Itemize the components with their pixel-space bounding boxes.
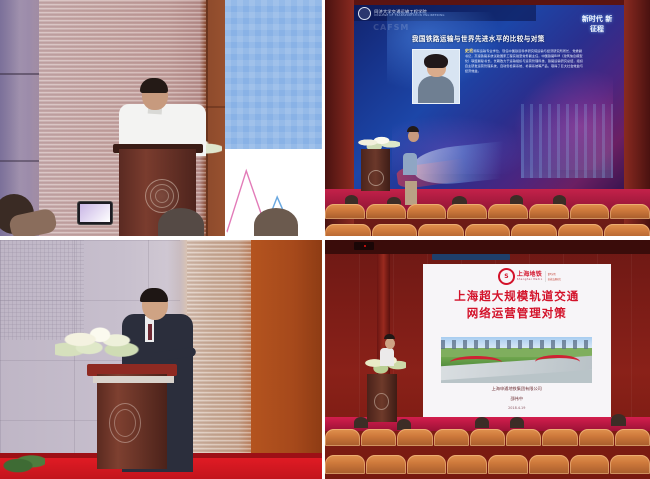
presenter-torso <box>380 348 394 366</box>
theatre-seat <box>610 204 650 219</box>
led-display-screen: 同济大学交通运输工程学院 COLLEGE OF TRANSPORTATION E… <box>354 5 624 189</box>
speaker-bio-body: 拥有运输专业学位，现任中国铁道科学研究院运输与经济研究所所长、党委副书记，高速铁… <box>465 49 583 73</box>
theatre-seat <box>488 204 528 219</box>
speaker-necktie <box>148 324 152 340</box>
theatre-seat <box>418 224 464 236</box>
panel-top-right-led-slide: 同济大学交通运输工程学院 COLLEGE OF TRANSPORTATION E… <box>325 0 650 236</box>
calligraphy-text: 新时代 新征程 <box>580 14 615 35</box>
projection-screen: S 上海地铁 Shanghai Metro 第3分院 轨道交通研究 上海超大规模… <box>423 264 612 417</box>
panel-top-left-speaker-white-shirt <box>0 0 322 236</box>
co-brand-line-1: 第3分院 <box>548 272 570 276</box>
seat-row-front <box>325 224 650 236</box>
theatre-seat <box>407 455 447 474</box>
co-brand-line-2: 轨道交通研究 <box>548 277 570 281</box>
panel-bottom-left-speaker-suit <box>0 240 322 479</box>
speaker-hair <box>140 78 168 93</box>
theatre-seat <box>511 224 557 236</box>
ceiling-beam <box>432 254 510 260</box>
theatre-seat <box>506 429 541 446</box>
presenter-shirt <box>403 153 417 175</box>
theatre-seat <box>542 429 577 446</box>
slide-footer-organization: 上海申通地铁集团有限公司 <box>432 386 602 392</box>
slide-footer-date: 2018.4.19 <box>432 406 602 410</box>
theatre-seat <box>447 204 487 219</box>
slide-title-line-2: 网络运营管理对策 <box>432 305 602 322</box>
phone-screen <box>80 204 110 222</box>
led-skyline-graphic <box>521 104 613 178</box>
slide-watermark: CAFSM <box>373 23 409 32</box>
theatre-seat <box>366 455 406 474</box>
theatre-seat <box>325 455 365 474</box>
co-brand-block: 第3分院 轨道交通研究 <box>545 271 570 282</box>
podium-flower-arrangement <box>55 321 145 366</box>
metro-s-mark-icon: S <box>498 268 515 285</box>
theatre-seat <box>488 455 528 474</box>
theatre-seat <box>434 429 469 446</box>
speaker-portrait-photo <box>412 49 460 104</box>
wood-panel-seam <box>206 0 208 236</box>
slide-title-line-1: 上海超大规模轨道交通 <box>432 288 602 305</box>
theatre-seat <box>604 224 650 236</box>
potted-plant <box>0 453 45 475</box>
audience-head-foreground-center <box>158 208 204 236</box>
slide-title: 上海超大规模轨道交通 网络运营管理对策 <box>432 288 602 321</box>
speaker-hair <box>140 288 168 302</box>
slide-title: 我国铁路运输与世界先进水平的比较与对策 <box>381 33 575 43</box>
theatre-seat <box>470 429 505 446</box>
theatre-seat <box>570 204 610 219</box>
theatre-seat <box>366 204 406 219</box>
projection-screen <box>225 0 322 236</box>
audience-head <box>510 417 524 428</box>
theatre-seat <box>558 224 604 236</box>
theatre-seat <box>615 429 650 446</box>
speaker-bio-text: 史宏拥有运输专业学位，现任中国铁道科学研究院运输与经济研究所所长、党委副书记，高… <box>465 48 584 74</box>
theatre-seat <box>397 429 432 446</box>
seat-row-front <box>325 455 650 474</box>
photo-red-arch-left <box>450 356 501 369</box>
shanghai-metro-logo: S 上海地铁 Shanghai Metro 第3分院 轨道交通研究 <box>498 270 585 284</box>
metro-logo-en: Shanghai Metro <box>517 278 543 281</box>
portrait-shirt <box>418 76 455 104</box>
podium-ledge <box>93 376 174 383</box>
audience-head <box>475 417 489 428</box>
theatre-seat <box>529 204 569 219</box>
theatre-seat <box>407 204 447 219</box>
wood-wall-panel <box>251 240 322 460</box>
theatre-seat <box>325 224 371 236</box>
theatre-seat <box>372 224 418 236</box>
photo-skyline <box>441 340 592 349</box>
university-emblem-icon <box>109 403 141 443</box>
presenter-hair <box>407 126 419 132</box>
theatre-seat <box>447 455 487 474</box>
presenter-legs <box>405 181 417 205</box>
ribbed-wall-texture <box>187 240 251 460</box>
theatre-seat <box>610 455 650 474</box>
indicator-light-icon <box>364 245 366 247</box>
portrait-hair <box>424 54 448 68</box>
slide-footer-presenter: 邵伟中 <box>432 396 602 402</box>
ceiling-band <box>325 240 650 254</box>
audience-head <box>611 414 626 426</box>
column-seam-lower <box>0 160 39 162</box>
mobile-phone-camera-icon <box>77 201 113 225</box>
presenter-hair <box>384 334 395 339</box>
screen-grid-texture <box>225 0 322 149</box>
column-seam-upper <box>0 73 39 75</box>
photo-collage: 同济大学交通运输工程学院 COLLEGE OF TRANSPORTATION E… <box>0 0 650 479</box>
seat-row-middle <box>325 429 650 446</box>
theatre-seat <box>579 429 614 446</box>
photo-red-arch-right <box>535 355 580 369</box>
theatre-seat <box>570 455 610 474</box>
audience-head <box>354 417 368 428</box>
theatre-seat <box>325 429 360 446</box>
seat-row-middle <box>325 204 650 219</box>
theatre-seat <box>325 204 365 219</box>
theatre-seat <box>361 429 396 446</box>
theatre-seat <box>529 455 569 474</box>
slide-cityscape-photo <box>441 337 592 383</box>
theatre-seat <box>465 224 511 236</box>
university-seal-icon <box>358 7 371 20</box>
panel-bottom-right-shanghai-metro-slide: S 上海地铁 Shanghai Metro 第3分院 轨道交通研究 上海超大规模… <box>325 240 650 479</box>
